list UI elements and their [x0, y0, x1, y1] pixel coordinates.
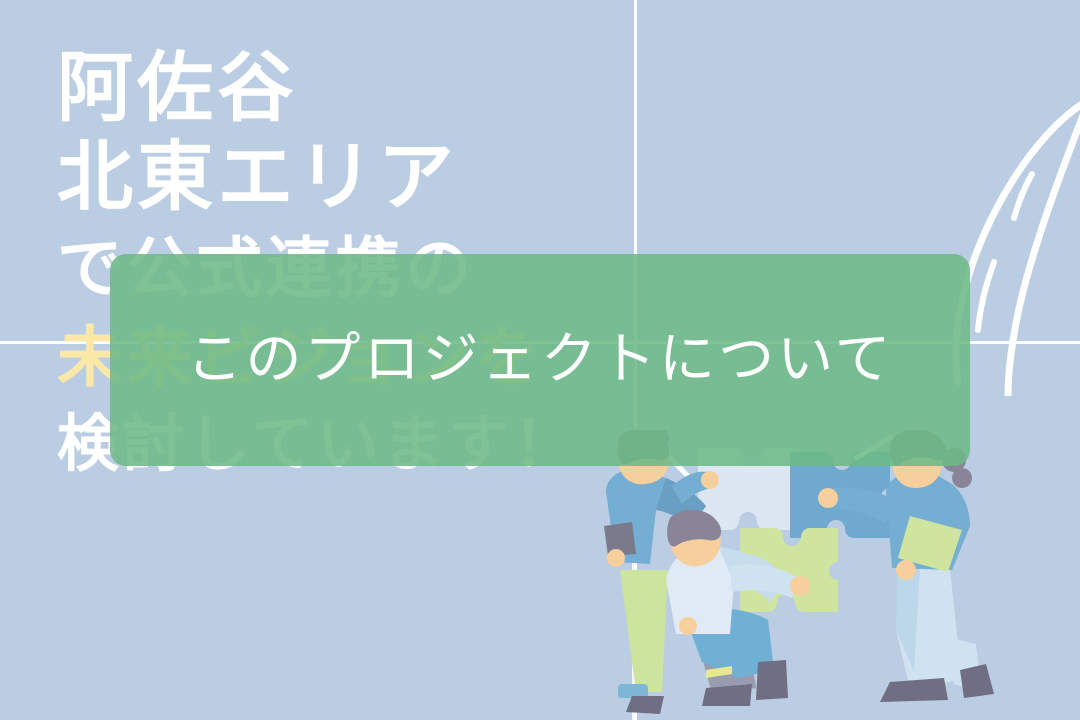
about-project-banner-label: このプロジェクトについて — [186, 328, 893, 392]
puzzle-piece-green — [740, 528, 838, 612]
headline-line-1: 阿佐谷 — [57, 46, 677, 132]
slide-canvas: 阿佐谷 北東エリア で公式連携の 未来ビジョンを 検討しています！ — [0, 0, 1080, 720]
about-project-banner[interactable]: このプロジェクトについて — [110, 254, 970, 466]
figure-walking-right — [818, 430, 994, 702]
figure-crouching — [666, 510, 810, 706]
headline-line-2: 北東エリア — [57, 132, 677, 224]
